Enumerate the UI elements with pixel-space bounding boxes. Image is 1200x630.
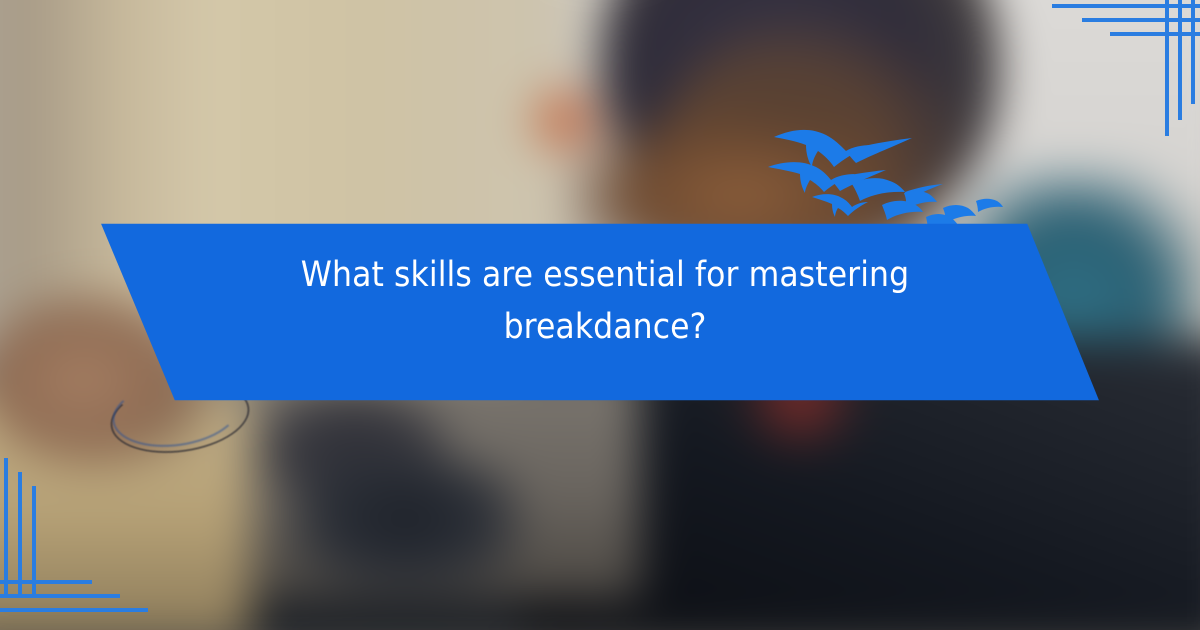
background-object-two — [290, 460, 520, 590]
deco-hline-3 — [1110, 32, 1200, 36]
headline-line-2: breakdance? — [175, 302, 1035, 354]
headline-text: What skills are essential for mastering … — [175, 250, 1035, 354]
headline-line-1: What skills are essential for mastering — [175, 250, 1035, 302]
deco-vline-1 — [1165, 0, 1169, 136]
background-red-accent-two — [740, 340, 860, 450]
deco-hline-2 — [1082, 18, 1200, 22]
deco-hline-3 — [0, 608, 148, 612]
deco-vline-1 — [4, 458, 8, 598]
deco-vline-2 — [1178, 0, 1182, 120]
deco-vline-3 — [1191, 0, 1195, 104]
flying-birds-flock-icon — [760, 105, 1010, 235]
corner-bracket-bottom-left — [0, 455, 170, 630]
background-red-accent — [520, 80, 610, 160]
share-card-canvas: What skills are essential for mastering … — [0, 0, 1200, 630]
deco-hline-1 — [0, 580, 92, 584]
corner-bracket-top-right — [1040, 0, 1200, 140]
deco-hline-2 — [0, 594, 120, 598]
